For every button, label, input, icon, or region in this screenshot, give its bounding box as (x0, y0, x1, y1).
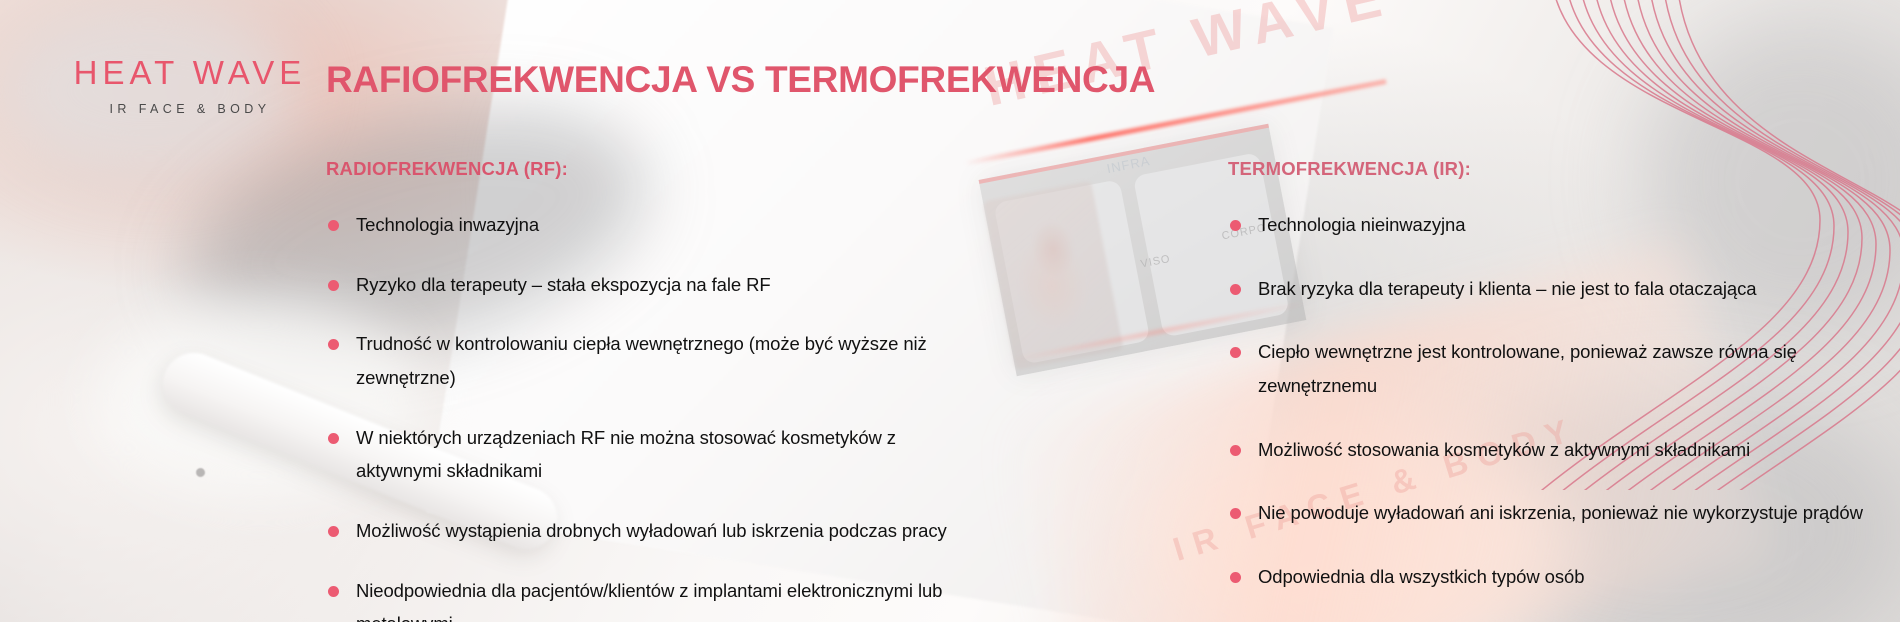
logo-wordmark: HEAT WAVE (60, 56, 320, 89)
column-radiofrequency: RADIOFREKWENCJA (RF): Technologia inwazy… (326, 158, 986, 622)
column-thermofrequency: TERMOFREKWENCJA (IR): Technologia nieinw… (1228, 158, 1878, 622)
list-item: Technologia nieinwazyjna (1228, 208, 1878, 242)
slide-title: RAFIOFREKWENCJA VS TERMOFREKWENCJA (326, 59, 1155, 101)
logo-tagline: IR FACE & BODY (60, 102, 320, 116)
presentation-slide: INFRA VISO CORPO HEAT WAVE IR FACE & BOD… (0, 0, 1900, 622)
brand-logo: HEAT WAVE IR FACE & BODY (60, 56, 320, 116)
list-item: Ciepło wewnętrzne jest kontrolowane, pon… (1228, 335, 1878, 402)
column-heading-radiofrequency: RADIOFREKWENCJA (RF): (326, 158, 986, 180)
list-item: Możliwość wystąpienia drobnych wyładowań… (326, 514, 986, 548)
list-item: Odpowiednia dla wszystkich typów osób (1228, 560, 1878, 594)
list-item: Możliwość stosowania kosmetyków z aktywn… (1228, 433, 1878, 467)
bullet-list-radiofrequency: Technologia inwazyjna Ryzyko dla terapeu… (326, 208, 986, 622)
list-item: Trudność w kontrolowaniu ciepła wewnętrz… (326, 327, 986, 394)
list-item: Nieodpowiednia dla pacjentów/klientów z … (326, 574, 986, 622)
column-heading-thermofrequency: TERMOFREKWENCJA (IR): (1228, 158, 1878, 180)
bullet-list-thermofrequency: Technologia nieinwazyjna Brak ryzyka dla… (1228, 208, 1878, 594)
list-item: Ryzyko dla terapeuty – stała ekspozycja … (326, 268, 986, 302)
list-item: Technologia inwazyjna (326, 208, 986, 242)
list-item: Brak ryzyka dla terapeuty i klienta – ni… (1228, 272, 1878, 306)
list-item: W niektórych urządzeniach RF nie można s… (326, 421, 986, 488)
list-item: Nie powoduje wyładowań ani iskrzenia, po… (1228, 496, 1878, 530)
